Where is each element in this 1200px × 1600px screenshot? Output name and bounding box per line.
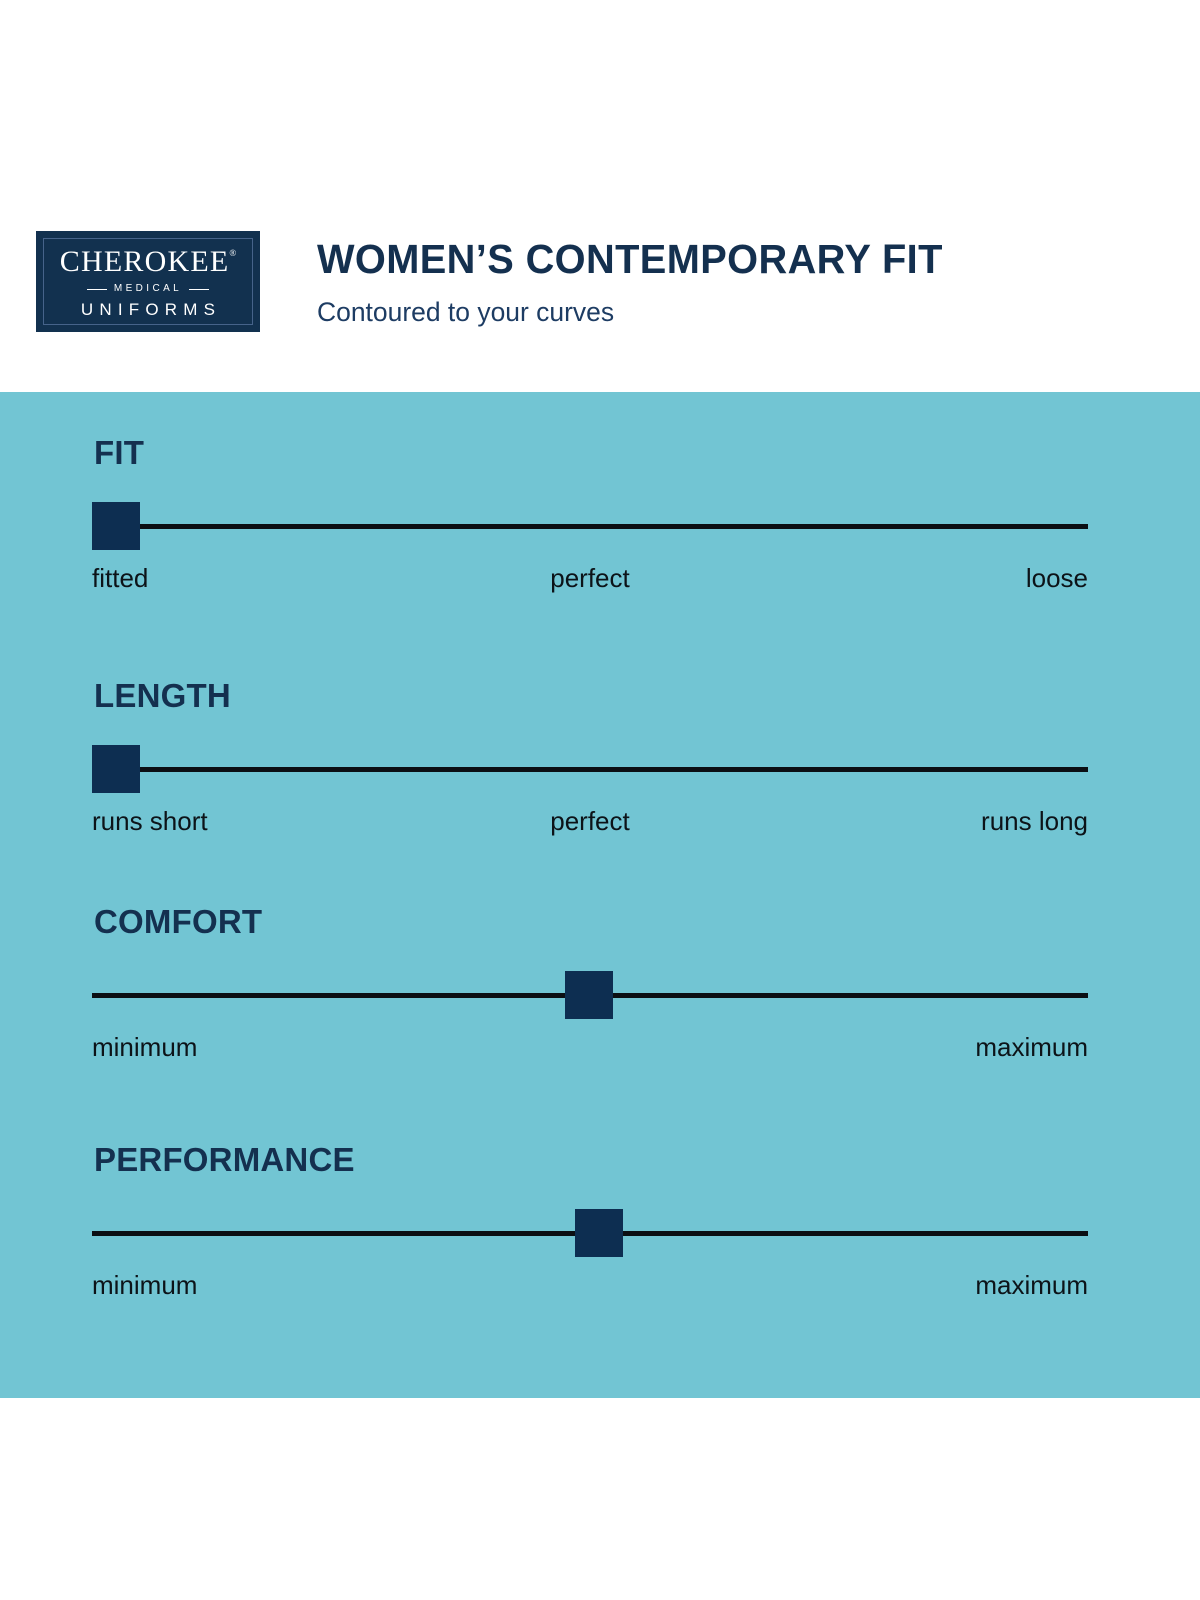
meter-fit-labels: fitted perfect loose	[92, 562, 1088, 596]
slider-handle[interactable]	[92, 745, 140, 793]
meter-comfort-slider[interactable]	[92, 971, 1088, 1019]
slider-handle[interactable]	[575, 1209, 623, 1257]
meter-performance-slider[interactable]	[92, 1209, 1088, 1257]
logo-uniforms-text: UNIFORMS	[75, 301, 221, 318]
slider-track[interactable]	[92, 767, 1088, 772]
meter-fit-slider[interactable]	[92, 502, 1088, 550]
page-title: WOMEN’S CONTEMPORARY FIT	[317, 238, 943, 281]
slider-label-right: maximum	[975, 1031, 1088, 1064]
slider-label-right: runs long	[981, 805, 1088, 838]
logo-rule-right-icon	[189, 289, 209, 290]
header-text-block: WOMEN’S CONTEMPORARY FIT Contoured to yo…	[317, 238, 962, 326]
slider-label-right: maximum	[975, 1269, 1088, 1302]
logo-inner-border: CHEROKEE® MEDICAL UNIFORMS	[43, 238, 253, 325]
logo-rule-left-icon	[87, 289, 107, 290]
slider-label-left: fitted	[92, 562, 148, 595]
meter-performance-title: PERFORMANCE	[94, 1143, 1088, 1176]
registered-trademark-icon: ®	[229, 248, 236, 258]
slider-label-left: runs short	[92, 805, 208, 838]
slider-label-left: minimum	[92, 1031, 197, 1064]
slider-track[interactable]	[92, 524, 1088, 529]
meter-length-labels: runs short perfect runs long	[92, 805, 1088, 839]
logo-medical-text: MEDICAL	[114, 284, 182, 294]
meter-fit-title: FIT	[94, 436, 1088, 469]
logo-brand-name: CHEROKEE®	[60, 247, 236, 277]
meter-performance-labels: minimum maximum	[92, 1269, 1088, 1303]
page-subtitle: Contoured to your curves	[317, 299, 949, 326]
logo-medical-row: MEDICAL	[87, 284, 209, 294]
meter-performance: PERFORMANCE minimum maximum	[92, 1143, 1088, 1303]
meters-group: FIT fitted perfect loose LENGTH	[0, 392, 1200, 1398]
meter-comfort-labels: minimum maximum	[92, 1031, 1088, 1065]
page-header: CHEROKEE® MEDICAL UNIFORMS WOMEN’S CONTE…	[0, 0, 1200, 392]
meter-comfort-title: COMFORT	[94, 905, 1088, 938]
logo-brand-word: CHEROKEE	[60, 245, 230, 278]
meter-fit: FIT fitted perfect loose	[92, 436, 1088, 596]
fit-guide-page: CHEROKEE® MEDICAL UNIFORMS WOMEN’S CONTE…	[0, 0, 1200, 1600]
meter-length-slider[interactable]	[92, 745, 1088, 793]
slider-handle[interactable]	[92, 502, 140, 550]
slider-label-left: minimum	[92, 1269, 197, 1302]
slider-label-center: perfect	[550, 562, 630, 595]
slider-handle[interactable]	[565, 971, 613, 1019]
slider-label-center: perfect	[550, 805, 630, 838]
meter-comfort: COMFORT minimum maximum	[92, 905, 1088, 1065]
cherokee-medical-uniforms-logo: CHEROKEE® MEDICAL UNIFORMS	[36, 231, 260, 332]
fit-attributes-panel: FIT fitted perfect loose LENGTH	[0, 392, 1200, 1398]
meter-length-title: LENGTH	[94, 679, 1088, 712]
slider-label-right: loose	[1026, 562, 1088, 595]
meter-length: LENGTH runs short perfect runs long	[92, 679, 1088, 839]
